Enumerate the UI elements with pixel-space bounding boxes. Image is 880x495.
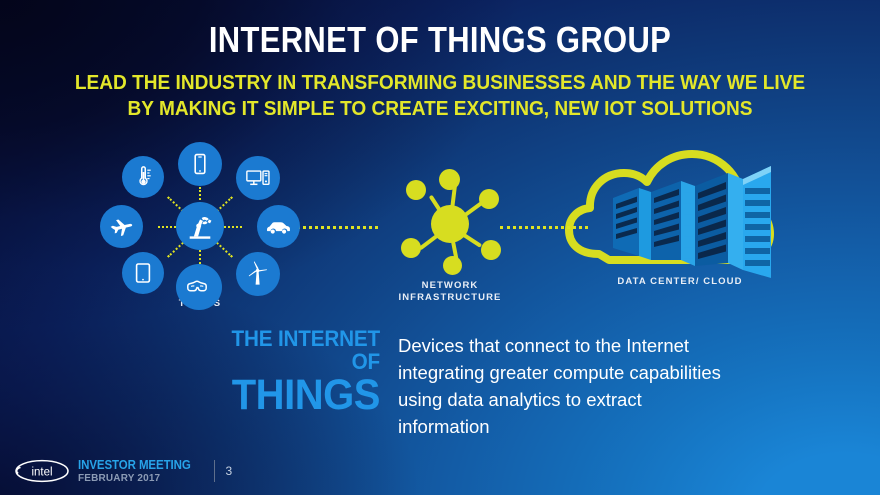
svg-text:intel: intel (31, 466, 52, 478)
iot-definition-body: Devices that connect to the Internet int… (398, 332, 728, 440)
footer-event-date: FEBRUARY 2017 (78, 473, 194, 484)
vr-glasses-icon (185, 273, 213, 301)
title-block: INTERNET OF THINGS GROUP LEAD THE INDUST… (0, 22, 880, 122)
things-node-smartphone[interactable] (178, 142, 222, 186)
footer-divider (214, 460, 215, 482)
network-node (406, 180, 426, 200)
thermometer-icon (131, 165, 155, 189)
iot-heading-line-2: THINGS (224, 375, 380, 416)
network-infrastructure-graphic[interactable]: NETWORKINFRASTRUCTURE (375, 144, 525, 294)
iot-definition-block: THE INTERNET OF THINGS Devices that conn… (212, 328, 772, 438)
things-node-vr-glasses[interactable] (176, 264, 222, 310)
footer-event-name: INVESTOR MEETING (78, 459, 191, 472)
things-cluster: THINGS (100, 148, 300, 298)
robot-arm-icon (185, 211, 215, 241)
datacenter-cloud-graphic[interactable]: DATA CENTER/ CLOUD (565, 136, 780, 296)
connector-network-to-datacenter (500, 226, 588, 229)
things-node-desktop-computer[interactable] (236, 156, 280, 200)
network-label-line-1: NETWORK (422, 280, 479, 291)
wind-turbine-icon (245, 261, 271, 287)
network-label: NETWORKINFRASTRUCTURE (380, 280, 520, 304)
intel-logo: intel (14, 459, 70, 483)
smartphone-icon (188, 152, 212, 176)
connector-things-to-network (290, 226, 378, 229)
page-number: 3 (226, 464, 233, 478)
things-node-wind-turbine[interactable] (236, 252, 280, 296)
footer-event-info: INVESTOR MEETING FEBRUARY 2017 (78, 459, 201, 483)
airplane-icon (109, 214, 134, 239)
subtitle-line-2: BY MAKING IT SIMPLE TO CREATE EXCITING, … (31, 96, 849, 122)
iot-architecture-diagram: THINGS NETWORKINFRASTRUCTURE (0, 148, 880, 313)
network-node (401, 238, 421, 258)
network-hub-node (431, 205, 469, 243)
things-node-car[interactable] (257, 205, 300, 248)
network-node (443, 256, 462, 275)
cloud-server-racks-icon (565, 136, 780, 296)
network-node (439, 169, 460, 190)
datacenter-label: DATA CENTER/ CLOUD (600, 276, 760, 288)
things-node-thermometer[interactable] (122, 156, 164, 198)
network-label-line-2: INFRASTRUCTURE (398, 292, 501, 303)
things-node-airplane[interactable] (100, 205, 143, 248)
car-icon (265, 213, 292, 240)
slide-canvas: INTERNET OF THINGS GROUP LEAD THE INDUST… (0, 0, 880, 495)
iot-definition-heading: THE INTERNET OF THINGS (212, 328, 380, 416)
page-subtitle: LEAD THE INDUSTRY IN TRANSFORMING BUSINE… (31, 70, 849, 122)
network-node (479, 189, 499, 209)
slide-footer: intel INVESTOR MEETING FEBRUARY 2017 3 (14, 459, 232, 483)
page-title: INTERNET OF THINGS GROUP (62, 22, 819, 58)
desktop-computer-icon (245, 165, 271, 191)
things-node-tablet[interactable] (122, 252, 164, 294)
network-node (481, 240, 501, 260)
tablet-icon (131, 261, 155, 285)
things-center-node-robot-arm[interactable] (176, 202, 224, 250)
subtitle-line-1: LEAD THE INDUSTRY IN TRANSFORMING BUSINE… (75, 71, 805, 94)
iot-heading-line-1: THE INTERNET OF (225, 328, 380, 373)
